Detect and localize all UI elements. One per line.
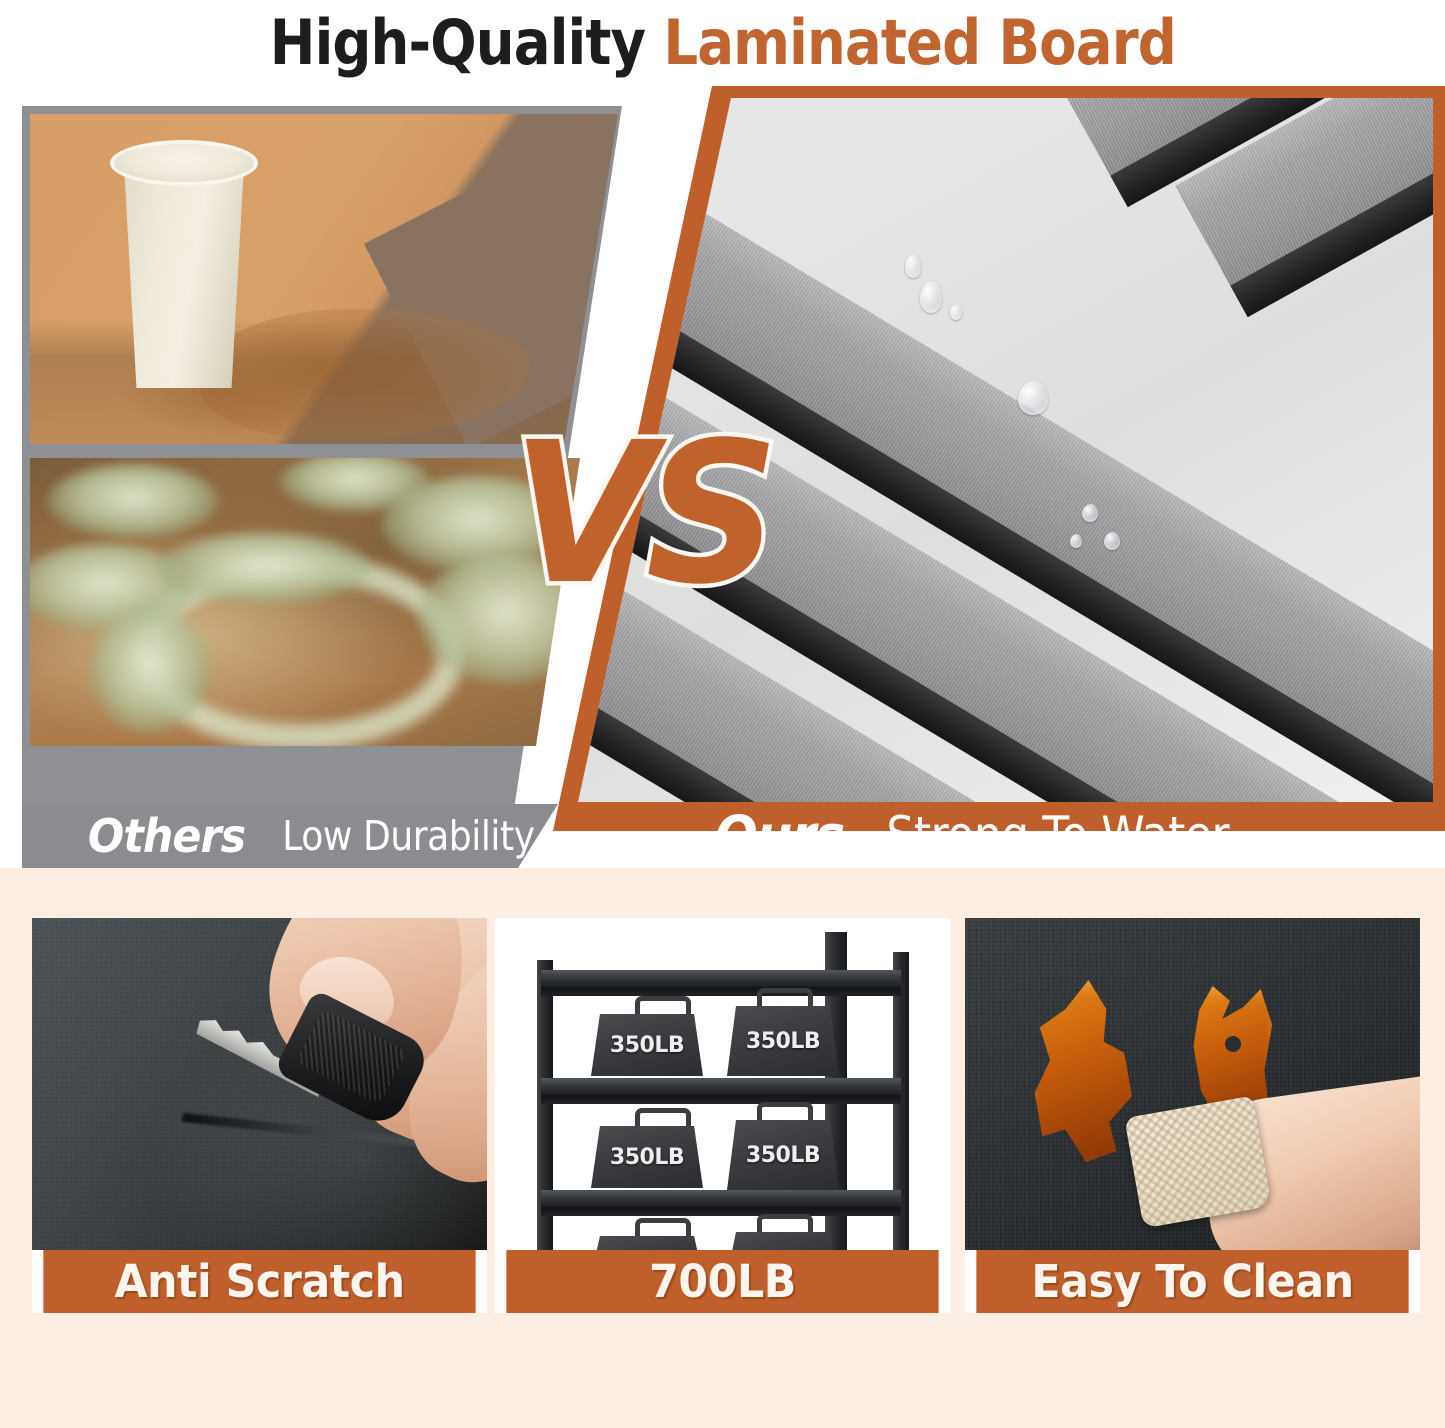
rack-shelf xyxy=(541,1078,901,1095)
water-droplet-icon xyxy=(1070,534,1082,548)
weight-block xyxy=(591,1236,703,1250)
weight-label: 350LB xyxy=(746,1029,820,1054)
easy-clean-photo xyxy=(965,918,1420,1250)
mold-patch xyxy=(160,532,370,604)
feature-label-easy-clean: Easy To Clean xyxy=(976,1250,1408,1313)
weight-block: 350LB xyxy=(727,1120,839,1190)
water-droplet-icon xyxy=(1018,381,1048,415)
others-label-light: Low Durability xyxy=(282,812,534,860)
page-title-part2: Laminated Board xyxy=(663,6,1176,79)
storage-rack-photo: 350LB 350LB 350LB 350LB xyxy=(495,918,950,1250)
others-mold-photo xyxy=(30,458,580,746)
paper-cup xyxy=(118,152,250,388)
others-spill-photo xyxy=(30,114,618,444)
water-droplet-icon xyxy=(905,254,921,278)
water-droplet-icon xyxy=(950,304,962,320)
weight-label: 350LB xyxy=(746,1143,820,1168)
page-header: High-Quality Laminated Board xyxy=(0,0,1445,86)
features-section: Anti Scratch 350LB 350LB 350LB xyxy=(0,868,1445,1428)
vs-badge: VS xyxy=(512,416,770,611)
spill-hole xyxy=(1225,1036,1241,1052)
ours-label-strong: Ours xyxy=(715,804,844,867)
water-droplet-icon xyxy=(920,281,942,313)
water-droplet-icon xyxy=(1104,532,1120,550)
page-title: High-Quality Laminated Board xyxy=(269,12,1175,74)
feature-card-capacity: 350LB 350LB 350LB 350LB 700LB xyxy=(495,918,950,1313)
others-label-strong: Others xyxy=(88,809,245,863)
weight-block: 350LB xyxy=(591,1014,703,1076)
page-title-part1: High-Quality xyxy=(269,6,663,79)
water-droplet-icon xyxy=(1082,504,1098,522)
paper-cup-rim xyxy=(110,140,258,186)
ours-caption-bar: Ours Strong To Water xyxy=(560,802,1445,868)
feature-card-easy-clean: Easy To Clean xyxy=(965,918,1420,1313)
others-caption-bar: Others Low Durability xyxy=(22,804,558,868)
weight-block: 350LB xyxy=(591,1126,703,1188)
weight-label: 350LB xyxy=(610,1033,684,1058)
weight-block xyxy=(727,1232,839,1250)
feature-card-anti-scratch: Anti Scratch xyxy=(32,918,487,1313)
mold-patch xyxy=(90,608,210,732)
mold-patch xyxy=(48,464,218,538)
cleaning-cloth xyxy=(1124,1096,1271,1229)
anti-scratch-photo xyxy=(32,918,487,1250)
rack-shelf xyxy=(541,1190,901,1207)
rack-shelf xyxy=(541,970,901,987)
feature-label-anti-scratch: Anti Scratch xyxy=(43,1250,475,1313)
weight-label: 350LB xyxy=(610,1145,684,1170)
weight-block: 350LB xyxy=(727,1006,839,1076)
comparison-section: Others Low Durability Ours Strong To Wat… xyxy=(0,86,1445,868)
ours-label-light: Strong To Water xyxy=(886,806,1229,864)
feature-label-capacity: 700LB xyxy=(506,1250,938,1313)
